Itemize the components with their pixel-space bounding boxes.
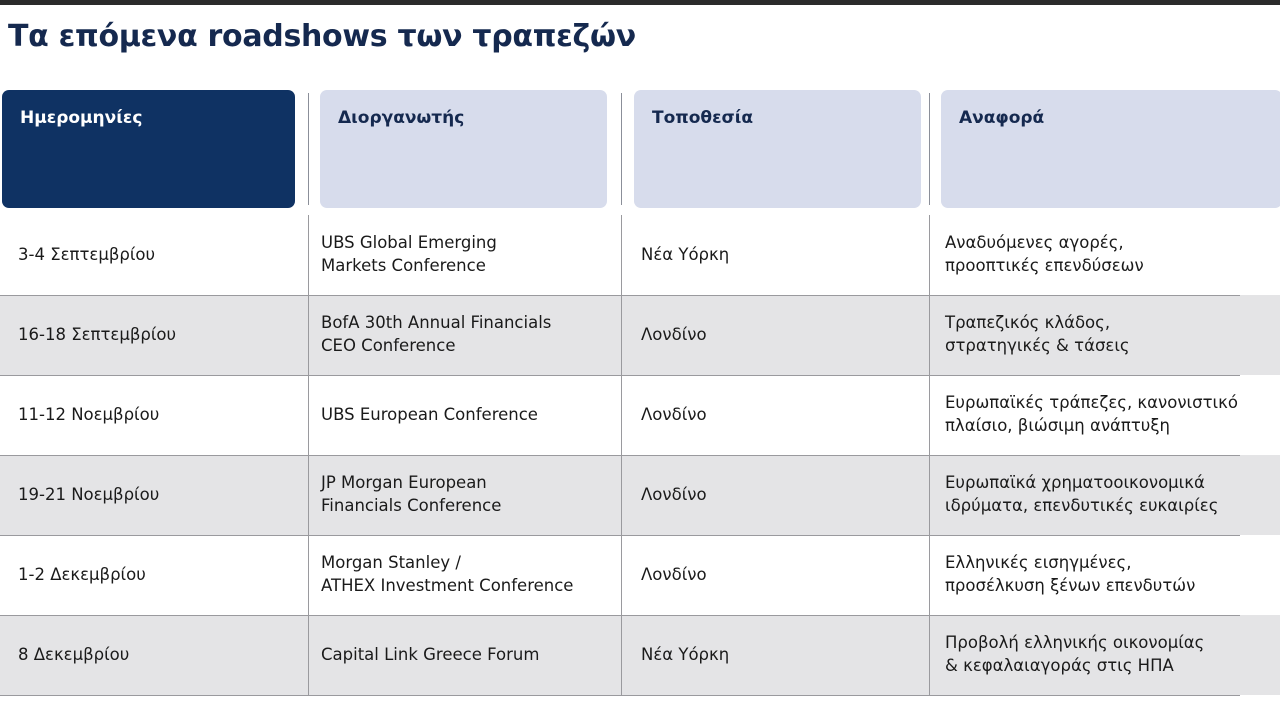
cell-organizer-line1: UBS European Conference xyxy=(321,404,613,427)
cell-dates: 3-4 Σεπτεμβρίου xyxy=(18,215,298,295)
cell-note-line2: προσέλκυση ξένων επενδυτών xyxy=(945,575,1275,598)
cell-location-text: Λονδίνο xyxy=(641,564,921,587)
cell-divider-3 xyxy=(929,375,930,455)
cell-dates-text: 19-21 Νοεμβρίου xyxy=(18,484,298,507)
cell-dates-text: 8 Δεκεμβρίου xyxy=(18,644,298,667)
cell-location: Νέα Υόρκη xyxy=(641,615,921,695)
infographic-page: Τα επόμενα roadshows των τραπεζών Ημερομ… xyxy=(0,5,1280,706)
cell-organizer: BofA 30th Annual Financials CEO Conferen… xyxy=(321,295,613,375)
cell-organizer-line1: Capital Link Greece Forum xyxy=(321,644,613,667)
cell-divider-1 xyxy=(308,295,309,375)
cell-dates-text: 1-2 Δεκεμβρίου xyxy=(18,564,298,587)
cell-organizer: Morgan Stanley / ATHEX Investment Confer… xyxy=(321,535,613,615)
column-header-note: Αναφορά xyxy=(941,90,1280,208)
cell-organizer: UBS Global Emerging Markets Conference xyxy=(321,215,613,295)
cell-note-line2: ιδρύματα, επενδυτικές ευκαιρίες xyxy=(945,495,1275,518)
cell-location: Λονδίνο xyxy=(641,375,921,455)
cell-dates: 11-12 Νοεμβρίου xyxy=(18,375,298,455)
header-divider-2 xyxy=(621,93,622,205)
cell-divider-3 xyxy=(929,615,930,695)
cell-note-line1: Ευρωπαϊκές τράπεζες, κανονιστικό xyxy=(945,392,1275,415)
cell-dates-text: 11-12 Νοεμβρίου xyxy=(18,404,298,427)
page-title: Τα επόμενα roadshows των τραπεζών xyxy=(8,19,636,54)
cell-note: Προβολή ελληνικής οικονομίας & κεφαλαιαγ… xyxy=(945,615,1275,695)
cell-divider-2 xyxy=(621,295,622,375)
cell-organizer: UBS European Conference xyxy=(321,375,613,455)
cell-organizer-line2: ATHEX Investment Conference xyxy=(321,575,613,598)
table-body: 3-4 Σεπτεμβρίου UBS Global Emerging Mark… xyxy=(0,215,1280,695)
cell-divider-3 xyxy=(929,295,930,375)
cell-note: Ευρωπαϊκές τράπεζες, κανονιστικό πλαίσιο… xyxy=(945,375,1275,455)
cell-location: Λονδίνο xyxy=(641,295,921,375)
table-row: 11-12 Νοεμβρίου UBS European Conference … xyxy=(0,375,1280,455)
cell-dates-text: 16-18 Σεπτεμβρίου xyxy=(18,324,298,347)
cell-organizer-line1: UBS Global Emerging xyxy=(321,232,613,255)
table-row: 1-2 Δεκεμβρίου Morgan Stanley / ATHEX In… xyxy=(0,535,1280,615)
cell-location-text: Νέα Υόρκη xyxy=(641,244,921,267)
cell-location: Λονδίνο xyxy=(641,535,921,615)
cell-divider-2 xyxy=(621,375,622,455)
cell-divider-2 xyxy=(621,455,622,535)
cell-dates: 16-18 Σεπτεμβρίου xyxy=(18,295,298,375)
cell-divider-3 xyxy=(929,455,930,535)
column-header-location: Τοποθεσία xyxy=(634,90,921,208)
column-header-dates: Ημερομηνίες xyxy=(2,90,295,208)
cell-note-line2: & κεφαλαιαγοράς στις ΗΠΑ xyxy=(945,655,1275,678)
cell-organizer-line1: JP Morgan European xyxy=(321,472,613,495)
cell-location-text: Λονδίνο xyxy=(641,404,921,427)
cell-divider-1 xyxy=(308,535,309,615)
cell-note: Ελληνικές εισηγμένες, προσέλκυση ξένων ε… xyxy=(945,535,1275,615)
cell-divider-1 xyxy=(308,455,309,535)
cell-note: Τραπεζικός κλάδος, στρατηγικές & τάσεις xyxy=(945,295,1275,375)
cell-note-line1: Αναδυόμενες αγορές, xyxy=(945,232,1275,255)
column-header-organizer: Διοργανωτής xyxy=(320,90,607,208)
cell-note-line1: Ελληνικές εισηγμένες, xyxy=(945,552,1275,575)
cell-divider-3 xyxy=(929,215,930,295)
cell-note: Αναδυόμενες αγορές, προοπτικές επενδύσεω… xyxy=(945,215,1275,295)
cell-dates-text: 3-4 Σεπτεμβρίου xyxy=(18,244,298,267)
header-divider-1 xyxy=(308,93,309,205)
cell-note-line2: στρατηγικές & τάσεις xyxy=(945,335,1275,358)
cell-organizer-line1: BofA 30th Annual Financials xyxy=(321,312,613,335)
cell-location-text: Λονδίνο xyxy=(641,324,921,347)
cell-dates: 1-2 Δεκεμβρίου xyxy=(18,535,298,615)
cell-divider-2 xyxy=(621,615,622,695)
cell-divider-1 xyxy=(308,375,309,455)
cell-divider-1 xyxy=(308,215,309,295)
roadshows-table: Ημερομηνίες Διοργανωτής Τοποθεσία Αναφορ… xyxy=(0,85,1280,700)
cell-note-line2: προοπτικές επενδύσεων xyxy=(945,255,1275,278)
cell-location-text: Λονδίνο xyxy=(641,484,921,507)
table-row: 3-4 Σεπτεμβρίου UBS Global Emerging Mark… xyxy=(0,215,1280,295)
cell-note: Ευρωπαϊκά χρηματοοικονομικά ιδρύματα, επ… xyxy=(945,455,1275,535)
cell-location-text: Νέα Υόρκη xyxy=(641,644,921,667)
table-row: 8 Δεκεμβρίου Capital Link Greece Forum Ν… xyxy=(0,615,1280,695)
cell-organizer-line2: Markets Conference xyxy=(321,255,613,278)
cell-organizer: Capital Link Greece Forum xyxy=(321,615,613,695)
cell-divider-3 xyxy=(929,535,930,615)
cell-organizer-line2: Financials Conference xyxy=(321,495,613,518)
table-header-row: Ημερομηνίες Διοργανωτής Τοποθεσία Αναφορ… xyxy=(0,85,1280,215)
cell-divider-1 xyxy=(308,615,309,695)
cell-dates: 8 Δεκεμβρίου xyxy=(18,615,298,695)
cell-divider-2 xyxy=(621,535,622,615)
header-divider-3 xyxy=(929,93,930,205)
cell-note-line1: Ευρωπαϊκά χρηματοοικονομικά xyxy=(945,472,1275,495)
cell-location: Λονδίνο xyxy=(641,455,921,535)
cell-organizer-line2: CEO Conference xyxy=(321,335,613,358)
cell-note-line1: Προβολή ελληνικής οικονομίας xyxy=(945,632,1275,655)
cell-divider-2 xyxy=(621,215,622,295)
cell-note-line1: Τραπεζικός κλάδος, xyxy=(945,312,1275,335)
cell-note-line2: πλαίσιο, βιώσιμη ανάπτυξη xyxy=(945,415,1275,438)
cell-organizer: JP Morgan European Financials Conference xyxy=(321,455,613,535)
table-bottom-divider xyxy=(0,695,1240,696)
cell-organizer-line1: Morgan Stanley / xyxy=(321,552,613,575)
cell-location: Νέα Υόρκη xyxy=(641,215,921,295)
cell-dates: 19-21 Νοεμβρίου xyxy=(18,455,298,535)
table-row: 19-21 Νοεμβρίου JP Morgan European Finan… xyxy=(0,455,1280,535)
table-row: 16-18 Σεπτεμβρίου BofA 30th Annual Finan… xyxy=(0,295,1280,375)
